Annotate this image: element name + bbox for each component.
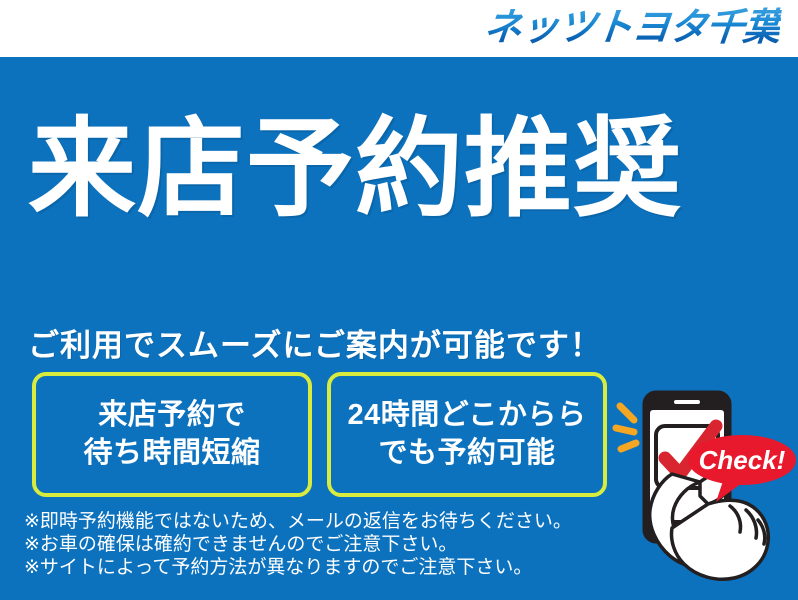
page-title: 来店予約推奨 (28, 112, 773, 226)
subtitle: ご利用でスムーズにご案内が可能です！ (28, 320, 602, 365)
disclaimer-notes: ※即時予約機能ではないため、メールの返信をお待ちください。 ※お車の確保は確約で… (24, 510, 572, 579)
phone-check-illustration: Check! (612, 386, 798, 600)
feature-box-24h-booking: 24時間どこからら でも予約可能 (327, 372, 607, 497)
disclaimer-note-2: ※お車の確保は確約できませんのでご注意下さい。 (24, 533, 572, 556)
feature-box-1-line-2: 待ち時間短縮 (83, 435, 260, 472)
hand-icon (650, 473, 769, 579)
feature-box-wait-time: 来店予約で 待ち時間短縮 (32, 372, 312, 497)
disclaimer-note-3: ※サイトによって予約方法が異なりますのでご注意下さい。 (24, 556, 572, 579)
feature-box-2-line-1: 24時間どこからら (348, 397, 587, 434)
brand-logo: ネッツトヨタ千葉 (482, 5, 783, 51)
promo-banner: ネッツトヨタ千葉 来店予約推奨 ご利用でスムーズにご案内が可能です！ 来店予約で… (0, 0, 798, 600)
header-band: ネッツトヨタ千葉 (0, 0, 798, 57)
check-bubble-label: Check! (699, 445, 786, 475)
disclaimer-note-1: ※即時予約機能ではないため、メールの返信をお待ちください。 (24, 510, 572, 533)
feature-box-1-line-1: 来店予約で (98, 397, 246, 434)
feature-box-2-line-2: でも予約可能 (378, 435, 555, 472)
spark-icon (616, 406, 636, 449)
